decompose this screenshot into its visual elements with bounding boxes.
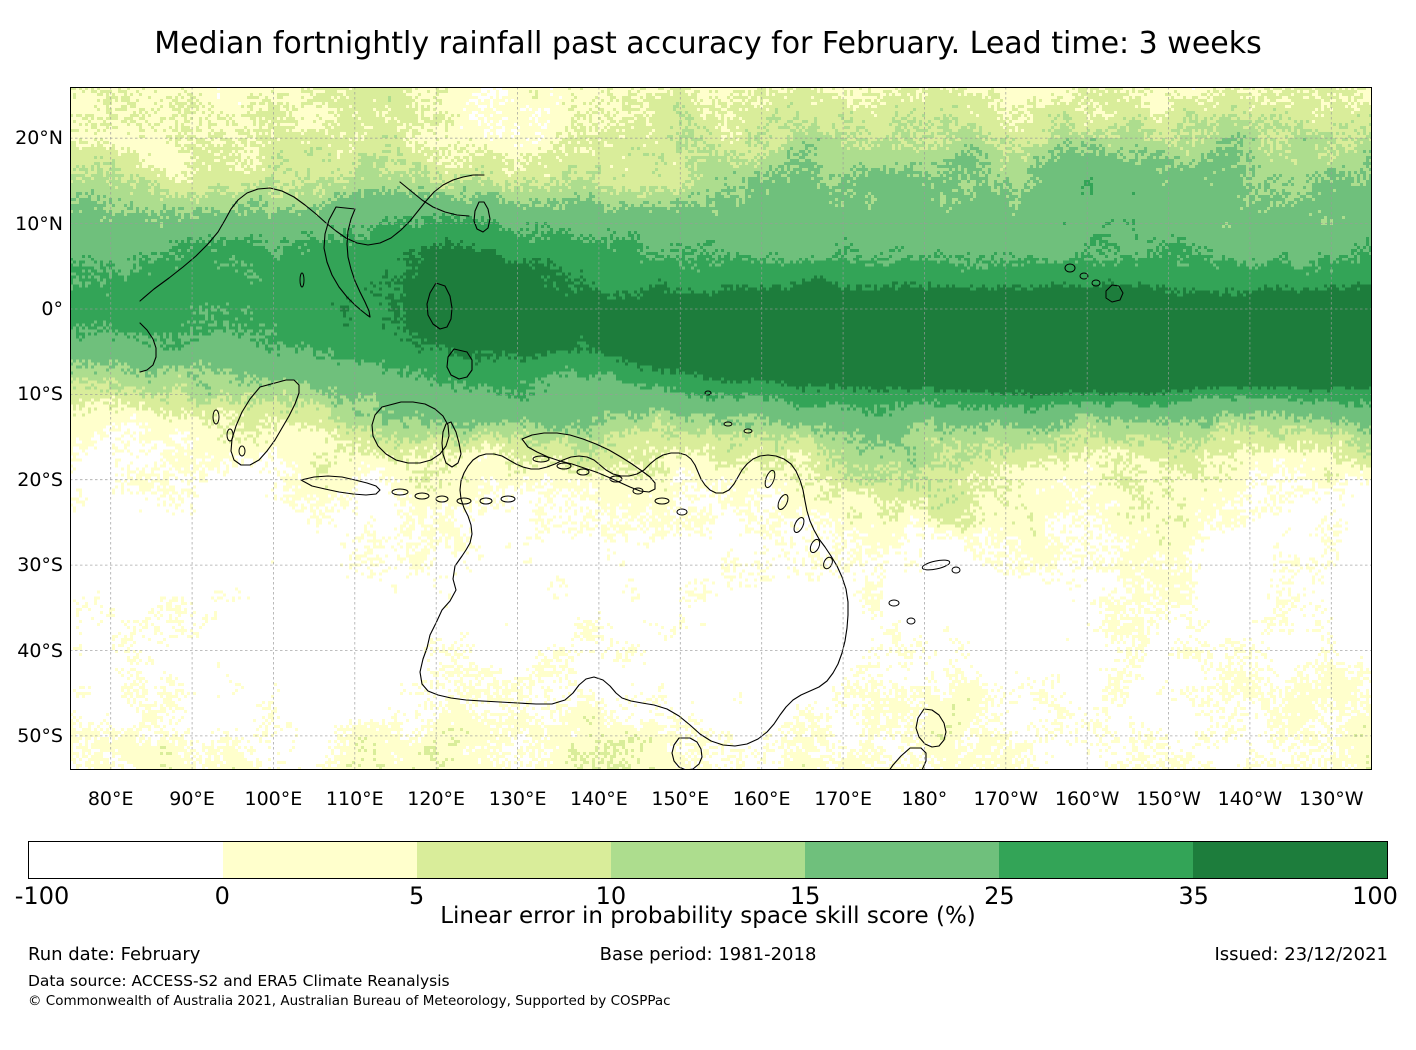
y-tick-label-7: 50°S: [17, 725, 63, 747]
x-tick-label-3: 110°E: [326, 788, 384, 810]
colorbar-segment-4: [805, 842, 999, 878]
x-tick-label-14: 140°W: [1218, 788, 1283, 810]
x-tick-label-12: 160°W: [1055, 788, 1120, 810]
x-tick-label-11: 170°W: [974, 788, 1039, 810]
x-tick-label-5: 130°E: [489, 788, 547, 810]
colorbar-segment-1: [223, 842, 417, 878]
x-tick-label-8: 160°E: [733, 788, 791, 810]
colorbar-gradient: [28, 841, 1388, 879]
colorbar: [28, 841, 1388, 879]
y-tick-label-5: 30°S: [17, 554, 63, 576]
copyright-text: © Commonwealth of Australia 2021, Austra…: [28, 993, 671, 1009]
x-tick-label-1: 90°E: [169, 788, 215, 810]
x-tick-label-9: 170°E: [814, 788, 872, 810]
colorbar-segment-3: [611, 842, 805, 878]
y-tick-label-3: 10°S: [17, 383, 63, 405]
x-tick-label-15: 130°W: [1299, 788, 1364, 810]
x-tick-label-10: 180°: [902, 788, 948, 810]
colorbar-segment-2: [417, 842, 611, 878]
colorbar-axis-label: Linear error in probability space skill …: [0, 903, 1416, 929]
page-title: Median fortnightly rainfall past accurac…: [0, 26, 1416, 61]
map-plot-area: [70, 87, 1372, 770]
y-tick-label-1: 10°N: [15, 213, 63, 235]
colorbar-segment-6: [1193, 842, 1387, 878]
x-tick-label-6: 140°E: [570, 788, 628, 810]
x-tick-label-7: 150°E: [651, 788, 709, 810]
y-tick-label-6: 40°S: [17, 640, 63, 662]
colorbar-segment-5: [999, 842, 1193, 878]
data-source-text: Data source: ACCESS-S2 and ERA5 Climate …: [28, 972, 450, 990]
x-tick-label-4: 120°E: [407, 788, 465, 810]
footer-top-row: Run date: February Base period: 1981-201…: [28, 944, 1388, 968]
y-tick-label-0: 20°N: [15, 127, 63, 149]
x-tick-label-13: 150°W: [1136, 788, 1201, 810]
colorbar-segment-0: [29, 842, 223, 878]
x-tick-label-0: 80°E: [88, 788, 134, 810]
graticule-gridlines: [70, 87, 1372, 770]
issued-date-text: Issued: 23/12/2021: [1214, 944, 1388, 965]
y-tick-label-4: 20°S: [17, 469, 63, 491]
base-period-text: Base period: 1981-2018: [600, 944, 817, 965]
run-date-text: Run date: February: [28, 944, 200, 965]
y-tick-label-2: 0°: [41, 298, 63, 320]
x-tick-label-2: 100°E: [245, 788, 303, 810]
